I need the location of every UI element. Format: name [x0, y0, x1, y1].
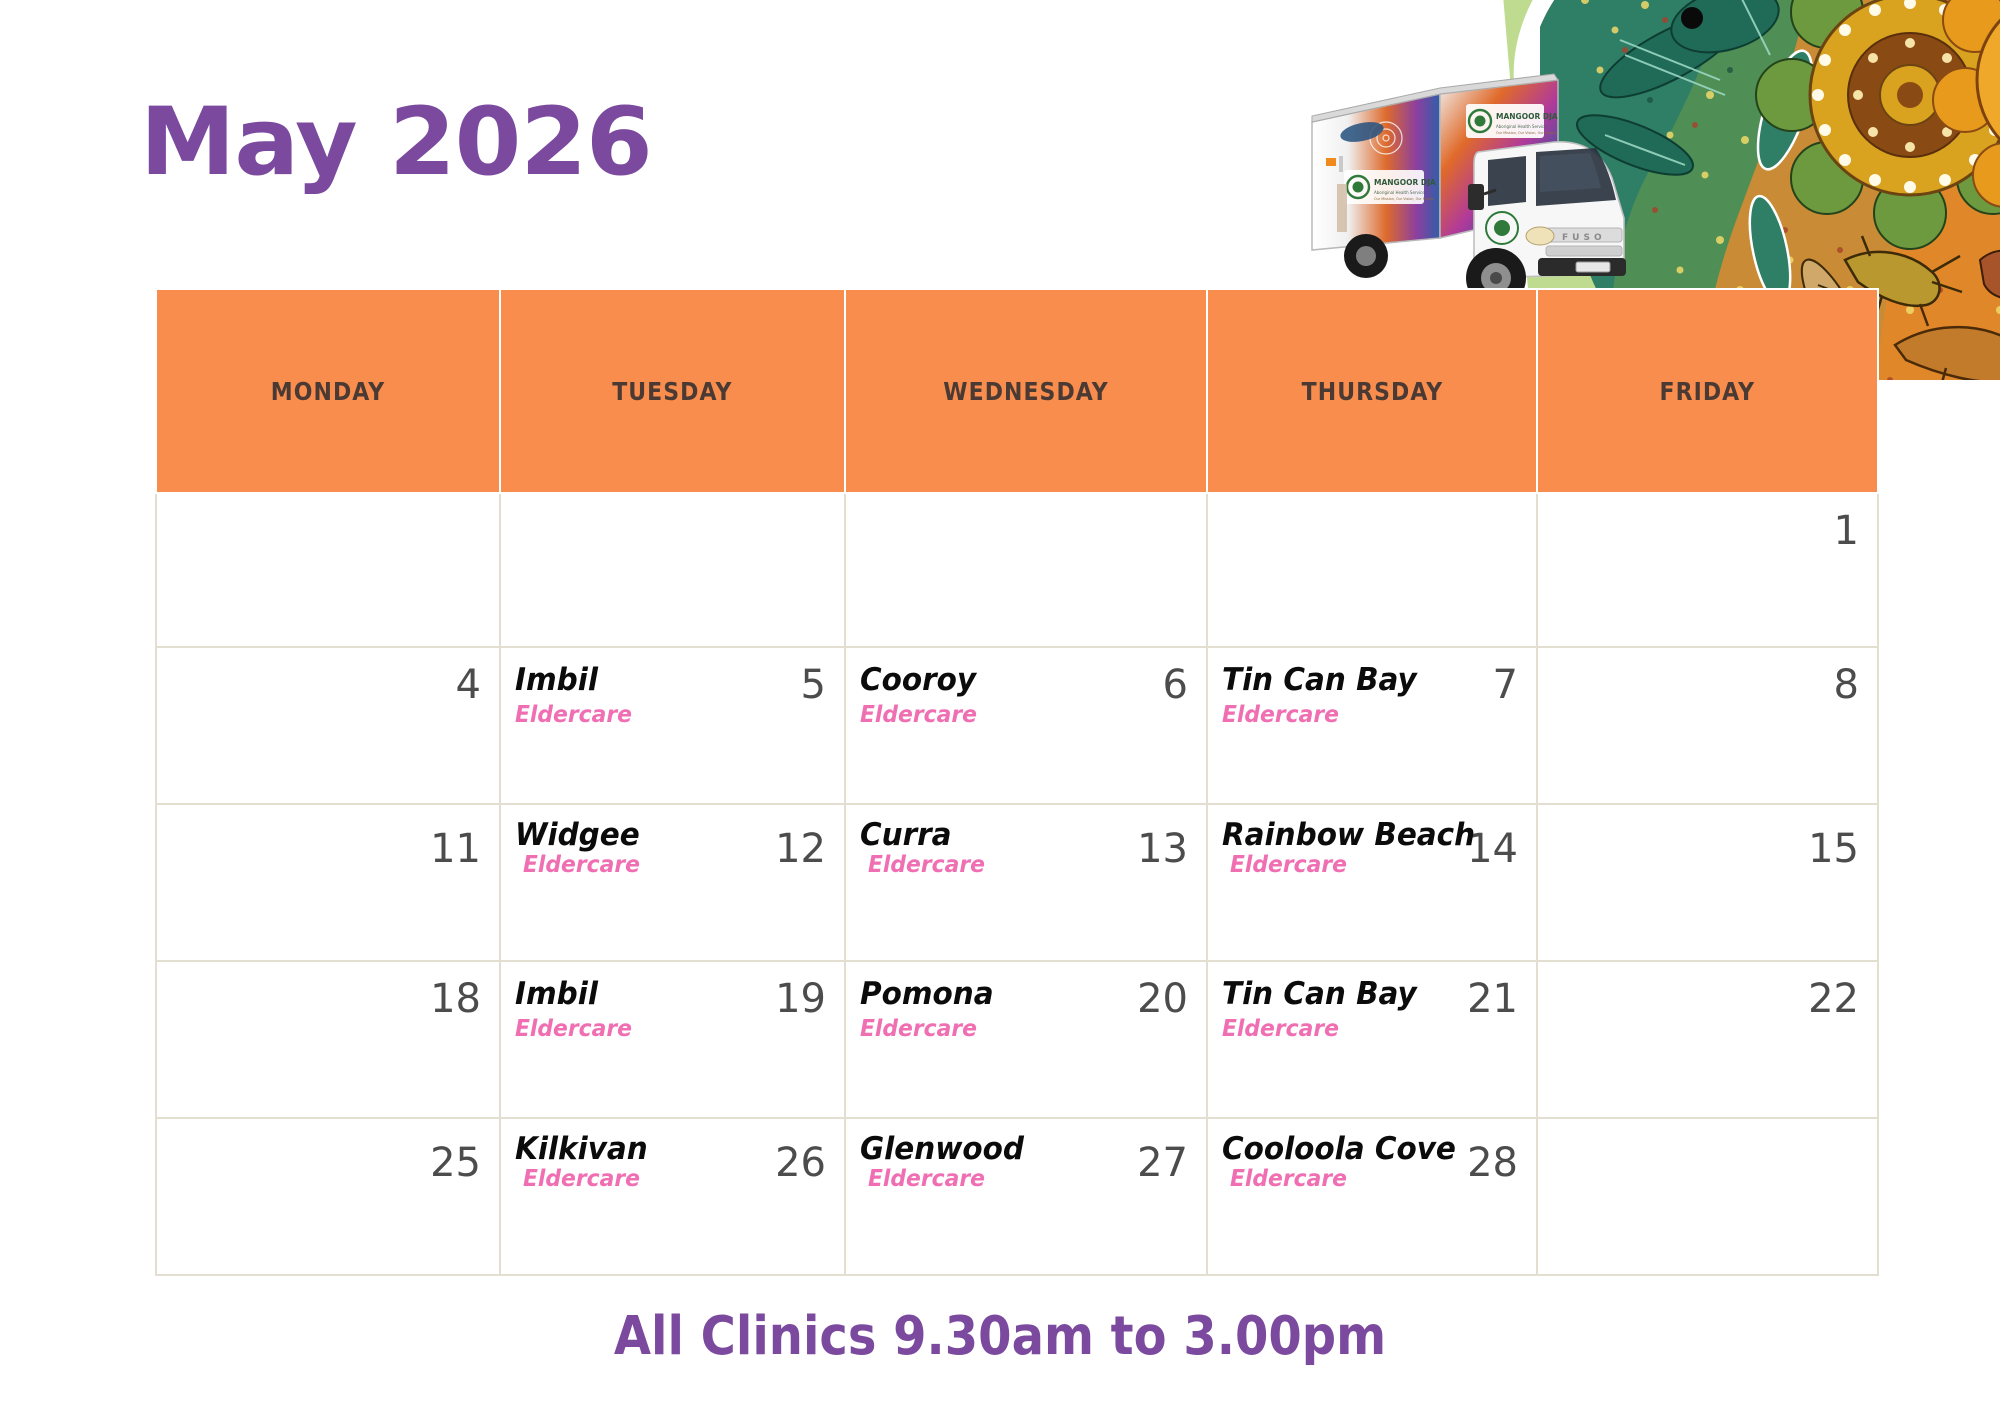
day-number: 18 [430, 979, 481, 1019]
day-header-label: WEDNESDAY [943, 377, 1108, 406]
day-cell-content: 12WidgeeEldercare [501, 805, 844, 960]
calendar-day-cell[interactable] [500, 493, 845, 647]
clinic-service-type: Eldercare [523, 1167, 811, 1191]
day-cell-content [501, 494, 844, 646]
day-header-label: TUESDAY [612, 377, 732, 406]
clinic-service-type: Eldercare [1222, 703, 1503, 727]
calendar-week-row: 1 [156, 493, 1878, 647]
day-header-wednesday: WEDNESDAY [845, 289, 1207, 493]
day-header-tuesday: TUESDAY [500, 289, 845, 493]
calendar-day-cell[interactable]: 27GlenwoodEldercare [845, 1118, 1207, 1275]
calendar-day-cell[interactable]: 14Rainbow BeachEldercare [1207, 804, 1537, 961]
calendar-day-cell[interactable]: 4 [156, 647, 500, 804]
svg-text:MANGOOR DJA: MANGOOR DJA [1374, 178, 1436, 187]
day-number: 15 [1808, 829, 1859, 869]
calendar-day-cell[interactable]: 8 [1537, 647, 1878, 804]
calendar-week-row: 45ImbilEldercare6CooroyEldercare7Tin Can… [156, 647, 1878, 804]
day-cell-content: 5ImbilEldercare [501, 648, 844, 803]
day-cell-content: 8 [1538, 648, 1877, 803]
clinic-location: Glenwood [860, 1133, 1172, 1166]
calendar-header-row: MONDAY TUESDAY WEDNESDAY THURSDAY FRIDAY [156, 289, 1878, 493]
svg-text:Aboriginal Health Service: Aboriginal Health Service [1374, 190, 1425, 195]
clinic-service-type: Eldercare [523, 853, 811, 877]
calendar-day-cell[interactable]: 19ImbilEldercare [500, 961, 845, 1118]
calendar-day-cell[interactable]: 26KilkivanEldercare [500, 1118, 845, 1275]
clinic-location: Tin Can Bay [1222, 664, 1503, 697]
day-number: 25 [430, 1143, 481, 1183]
svg-text:FUSO: FUSO [1562, 233, 1606, 243]
clinic-service-type: Eldercare [860, 1017, 1172, 1041]
day-number: 4 [456, 665, 481, 705]
day-header-thursday: THURSDAY [1207, 289, 1537, 493]
clinic-service-type: Eldercare [515, 703, 810, 727]
calendar-week-row: 1819ImbilEldercare20PomonaEldercare21Tin… [156, 961, 1878, 1118]
clinic-service-type: Eldercare [515, 1017, 810, 1041]
calendar-day-cell[interactable] [156, 493, 500, 647]
calendar-day-cell[interactable]: 6CooroyEldercare [845, 647, 1207, 804]
day-cell-content: 18 [157, 962, 499, 1117]
day-cell-content [1208, 494, 1536, 646]
day-cell-content: 4 [157, 648, 499, 803]
day-cell-content: 6CooroyEldercare [846, 648, 1206, 803]
clinic-service-type: Eldercare [860, 703, 1172, 727]
calendar-day-cell[interactable]: 21Tin Can BayEldercare [1207, 961, 1537, 1118]
day-number: 8 [1834, 665, 1859, 705]
day-cell-content: 20PomonaEldercare [846, 962, 1206, 1117]
calendar-day-cell[interactable]: 12WidgeeEldercare [500, 804, 845, 961]
day-header-monday: MONDAY [156, 289, 500, 493]
calendar-day-cell[interactable] [1207, 493, 1537, 647]
clinic-location: Cooroy [860, 664, 1172, 697]
clinic-hours-note: All Clinics 9.30am to 3.00pm [0, 1305, 2000, 1368]
day-number: 1 [1834, 511, 1859, 551]
calendar-day-cell[interactable]: 7Tin Can BayEldercare [1207, 647, 1537, 804]
calendar-day-cell[interactable]: 18 [156, 961, 500, 1118]
calendar-week-row: 1112WidgeeEldercare13CurraEldercare14Rai… [156, 804, 1878, 961]
mobile-clinic-truck-image: MANGOOR DJA Aboriginal Health Service Ou… [1290, 60, 1680, 320]
day-cell-content [1538, 1119, 1877, 1274]
clinic-location: Cooloola Cove [1222, 1133, 1503, 1166]
calendar-day-cell[interactable] [845, 493, 1207, 647]
day-cell-content: 21Tin Can BayEldercare [1208, 962, 1536, 1117]
day-cell-content: 7Tin Can BayEldercare [1208, 648, 1536, 803]
clinic-service-type: Eldercare [1222, 1017, 1503, 1041]
day-cell-content: 11 [157, 805, 499, 960]
day-header-label: FRIDAY [1660, 377, 1756, 406]
day-cell-content [157, 494, 499, 646]
svg-text:Aboriginal Health Service: Aboriginal Health Service [1496, 124, 1547, 129]
clinic-location: Imbil [515, 978, 810, 1011]
day-cell-content: 27GlenwoodEldercare [846, 1119, 1206, 1274]
svg-text:MANGOOR DJA: MANGOOR DJA [1496, 112, 1558, 121]
day-cell-content: 22 [1538, 962, 1877, 1117]
day-cell-content: 19ImbilEldercare [501, 962, 844, 1117]
clinic-service-type: Eldercare [1230, 1167, 1504, 1191]
day-header-label: MONDAY [271, 377, 385, 406]
clinic-service-type: Eldercare [868, 853, 1172, 877]
day-cell-content: 1 [1538, 494, 1877, 646]
clinic-service-type: Eldercare [868, 1167, 1172, 1191]
calendar-week-row: 2526KilkivanEldercare27GlenwoodEldercare… [156, 1118, 1878, 1275]
calendar-day-cell[interactable]: 22 [1537, 961, 1878, 1118]
calendar-day-cell[interactable]: 1 [1537, 493, 1878, 647]
calendar-day-cell[interactable]: 28Cooloola CoveEldercare [1207, 1118, 1537, 1275]
day-number: 22 [1808, 979, 1859, 1019]
day-cell-content: 25 [157, 1119, 499, 1274]
clinic-location: Pomona [860, 978, 1172, 1011]
day-number: 11 [430, 829, 481, 869]
calendar-day-cell[interactable]: 11 [156, 804, 500, 961]
day-cell-content: 26KilkivanEldercare [501, 1119, 844, 1274]
day-cell-content: 13CurraEldercare [846, 805, 1206, 960]
page-title: May 2026 [140, 96, 652, 190]
calendar-day-cell[interactable]: 25 [156, 1118, 500, 1275]
clinic-service-type: Eldercare [1230, 853, 1504, 877]
clinic-location: Tin Can Bay [1222, 978, 1503, 1011]
clinic-location: Kilkivan [515, 1133, 810, 1166]
day-header-label: THURSDAY [1301, 377, 1443, 406]
clinic-location: Rainbow Beach [1222, 819, 1503, 852]
clinic-location: Curra [860, 819, 1172, 852]
calendar-day-cell[interactable]: 20PomonaEldercare [845, 961, 1207, 1118]
day-cell-content: 15 [1538, 805, 1877, 960]
day-cell-content [846, 494, 1206, 646]
calendar-day-cell[interactable]: 15 [1537, 804, 1878, 961]
svg-text:Our Mission, Our Vision, Our P: Our Mission, Our Vision, Our People [1496, 131, 1556, 135]
clinic-location: Imbil [515, 664, 810, 697]
clinic-location: Widgee [515, 819, 810, 852]
svg-text:Our Mission, Our Vision, Our P: Our Mission, Our Vision, Our People [1374, 197, 1434, 201]
calendar-table: MONDAY TUESDAY WEDNESDAY THURSDAY FRIDAY… [155, 288, 1879, 1276]
day-cell-content: 14Rainbow BeachEldercare [1208, 805, 1536, 960]
calendar-day-cell[interactable] [1537, 1118, 1878, 1275]
calendar-day-cell[interactable]: 13CurraEldercare [845, 804, 1207, 961]
calendar-day-cell[interactable]: 5ImbilEldercare [500, 647, 845, 804]
day-header-friday: FRIDAY [1537, 289, 1878, 493]
day-cell-content: 28Cooloola CoveEldercare [1208, 1119, 1536, 1274]
